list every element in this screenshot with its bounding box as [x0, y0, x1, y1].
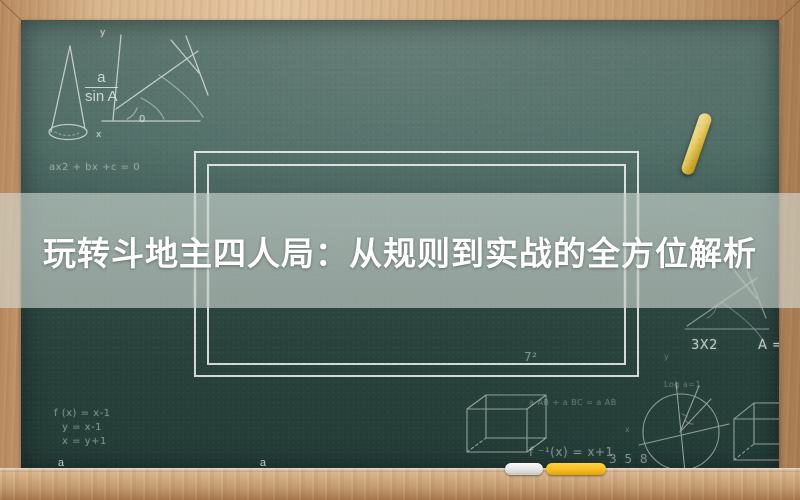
- chalk-text-fx1: f (x) = x-1: [54, 408, 111, 419]
- yellow-chalk-piece-icon: [546, 463, 606, 475]
- chalk-label-y-circle: y: [664, 352, 669, 361]
- white-chalk-piece-icon: [505, 463, 543, 475]
- chalk-text-quadratic: ax2 + bx +c = 0: [49, 162, 140, 173]
- chalk-label-angle-left: 0: [139, 114, 146, 125]
- chalk-label-x-circle: x: [625, 425, 630, 434]
- fraction-numerator: a: [85, 70, 118, 86]
- chalk-label-x-left: x: [96, 130, 102, 140]
- chalk-text-smallformula: a AB + a BC = a AB: [529, 398, 617, 407]
- yellow-chalk-stick-icon: [680, 112, 713, 177]
- chalk-text-35x2: 3X2: [691, 338, 718, 353]
- chalk-label-y-left: y: [100, 28, 106, 38]
- blackboard-banner: y x 0 a sin A ax2 + bx +c = 0 f (x) = x-…: [0, 0, 800, 500]
- chalk-text-log-label: Log a=1: [664, 380, 701, 389]
- chalk-text-longdiv-1: 3 5 8: [609, 452, 650, 466]
- ledge-lip: [0, 468, 800, 472]
- chalk-ledge: [0, 468, 800, 500]
- chalk-text-inverse-fx: f ⁻¹(x) = x+1: [529, 445, 614, 459]
- page-title: 玩转斗地主四人局：从规则到实战的全方位解析: [0, 193, 800, 308]
- fraction-bar: [85, 87, 118, 88]
- chalk-fraction-a-sinA-1: a sin A: [85, 70, 118, 105]
- chalk-text-fx2: y = x-1: [62, 422, 102, 433]
- chalk-text-3x2: A =( a b ) B =( c d ) C =( e f ): [758, 338, 779, 353]
- chalk-text-fx3: x = y+1: [62, 436, 107, 447]
- fraction-denominator: sin A: [85, 89, 118, 105]
